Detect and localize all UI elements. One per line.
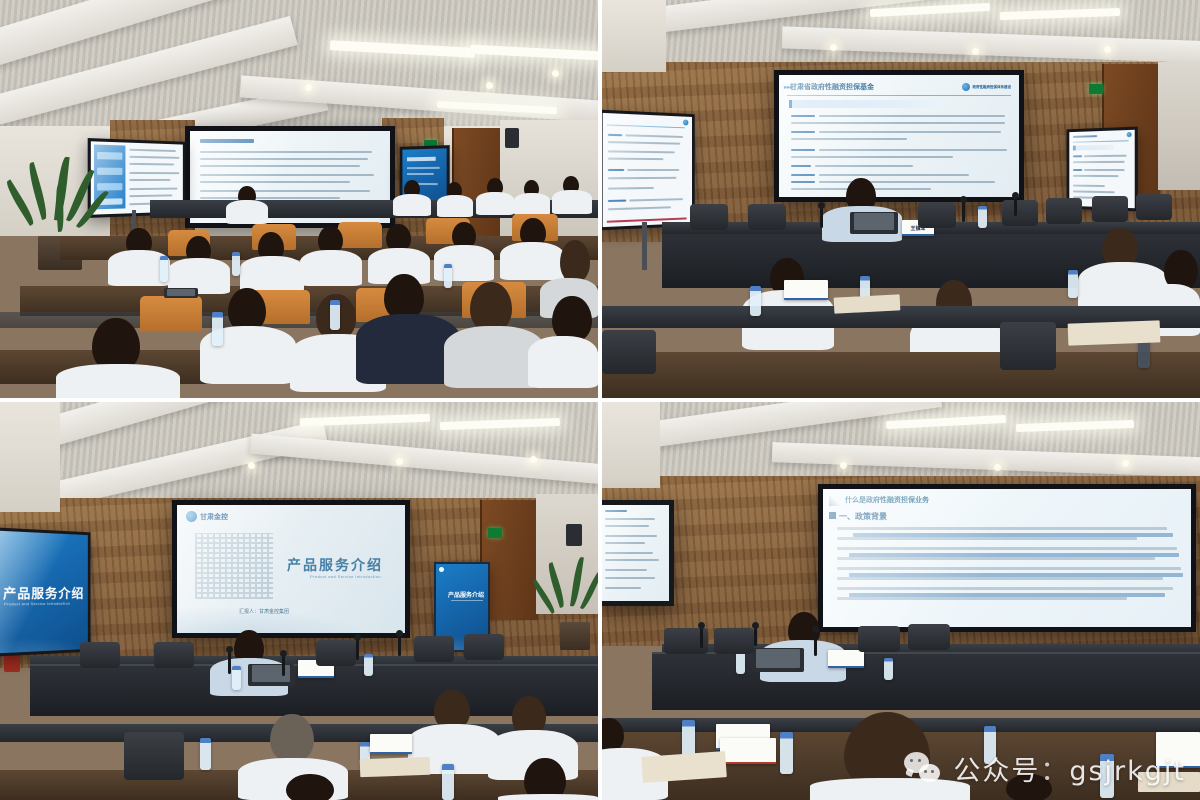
- attendee-body: [226, 200, 268, 224]
- attendee-body: [393, 194, 431, 216]
- side-wall: [602, 402, 660, 488]
- projection-screen: 甘肃省政府性融资担保基金 ▸▸▸ 政府性融资担保体系建设: [774, 70, 1024, 202]
- ceiling-spotlight: [972, 48, 979, 55]
- water-bottle: [232, 252, 240, 276]
- chair: [602, 330, 656, 374]
- slide-surface: [602, 505, 669, 601]
- laptop: [164, 288, 198, 298]
- name-placard: [828, 650, 864, 668]
- notebook: [1138, 772, 1200, 792]
- chair: [414, 636, 454, 662]
- desk-row: [602, 352, 1200, 398]
- side-wall: [1158, 62, 1200, 190]
- ceiling-spotlight: [530, 456, 537, 463]
- ceiling-spotlight: [248, 462, 255, 469]
- attendee-body: [56, 364, 180, 398]
- water-bottle: [978, 206, 987, 228]
- chair: [690, 204, 728, 230]
- attendee-head: [560, 240, 590, 282]
- microphone: [398, 634, 401, 656]
- chair: [1046, 198, 1082, 224]
- water-bottle: [212, 312, 223, 346]
- monitor-stand: [642, 222, 647, 270]
- water-bottle: [750, 286, 761, 316]
- microphone: [814, 630, 817, 656]
- head-table: [652, 652, 1200, 710]
- chair: [858, 626, 900, 652]
- photo-collage: 甘肃省政府性融资担保基金 ▸▸▸ 政府性融资担保体系建设: [0, 0, 1200, 800]
- attendee-body: [552, 190, 592, 214]
- chair: [748, 204, 786, 230]
- chair: [124, 732, 184, 780]
- exit-sign-icon: [1089, 84, 1103, 94]
- chair: [1000, 322, 1056, 370]
- chair: [1136, 194, 1172, 220]
- photo-panel-bottom-left: 甘肃金控 产品服务介绍 Product and Service Introduc…: [0, 402, 598, 800]
- attendee-body: [498, 794, 598, 800]
- chair-back: [338, 222, 382, 248]
- attendee-head: [270, 714, 314, 762]
- laptop: [850, 212, 898, 234]
- microphone: [282, 654, 285, 676]
- side-screen-left: [602, 500, 674, 606]
- attendee-body: [434, 245, 494, 281]
- attendee-body: [810, 778, 970, 800]
- side-wall: [0, 402, 60, 512]
- ceiling-spotlight: [1122, 460, 1129, 467]
- water-bottle: [1068, 270, 1078, 298]
- exit-sign-icon: [488, 528, 502, 538]
- water-bottle: [444, 264, 452, 288]
- laptop: [248, 664, 294, 686]
- projection-screen: 什么是政府性融资担保业务 一、政策背景: [818, 484, 1196, 632]
- chair-back: [140, 296, 202, 332]
- water-bottle: [1100, 754, 1114, 798]
- chair: [1002, 200, 1038, 226]
- chair: [154, 642, 194, 668]
- water-bottle: [160, 256, 168, 282]
- chair: [918, 202, 956, 228]
- water-bottle: [884, 658, 893, 680]
- attendee-body: [476, 192, 514, 215]
- slide-surface: 甘肃金控 产品服务介绍 Product and Service Introduc…: [177, 505, 405, 633]
- attendee-body: [528, 336, 598, 388]
- chair: [714, 628, 754, 654]
- slide-surface: 甘肃省政府性融资担保基金 ▸▸▸ 政府性融资担保体系建设: [779, 75, 1019, 197]
- water-bottle: [984, 726, 996, 764]
- microphone: [754, 626, 757, 646]
- water-bottle: [232, 666, 241, 690]
- laptop: [752, 648, 804, 672]
- water-bottle: [200, 738, 211, 770]
- chair: [80, 642, 120, 668]
- notebook: [360, 757, 431, 777]
- name-placard: [370, 734, 412, 754]
- projection-screen: 甘肃金控 产品服务介绍 Product and Service Introduc…: [172, 500, 410, 638]
- side-wall: [602, 0, 666, 72]
- chair: [1092, 196, 1128, 222]
- notebook: [1068, 320, 1161, 345]
- wall-speaker: [505, 128, 519, 148]
- monitor-slide: [603, 113, 692, 227]
- photo-panel-top-right: 甘肃省政府性融资担保基金 ▸▸▸ 政府性融资担保体系建设: [602, 0, 1200, 398]
- attendee-body: [437, 195, 473, 217]
- name-placard: [720, 738, 776, 764]
- microphone: [962, 200, 965, 222]
- attendee-head: [286, 774, 334, 800]
- water-bottle: [364, 654, 373, 676]
- chair: [908, 624, 950, 650]
- photo-panel-bottom-right: 什么是政府性融资担保业务 一、政策背景: [602, 402, 1200, 800]
- attendee-body: [500, 242, 564, 280]
- ceiling-spotlight: [486, 82, 493, 89]
- attendee-head: [1006, 774, 1052, 800]
- chair: [464, 634, 504, 660]
- ceiling-spotlight: [305, 84, 312, 91]
- company-logo-icon: [439, 567, 444, 572]
- ceiling-spotlight: [830, 44, 837, 51]
- water-bottle: [442, 764, 454, 800]
- banner-title: 产品服务介绍: [448, 590, 484, 599]
- ceiling-spotlight: [396, 458, 403, 465]
- microphone: [820, 206, 823, 228]
- side-monitor-left: [602, 110, 695, 231]
- ceiling-spotlight: [994, 464, 1001, 471]
- attendee-head: [470, 282, 512, 332]
- water-bottle: [780, 732, 793, 774]
- attendee-body: [240, 256, 304, 292]
- microphone: [1014, 196, 1017, 216]
- monitor-slide: 产品服务介绍 Product and Service Introduction: [0, 531, 88, 654]
- wall-speaker: [566, 524, 582, 546]
- name-placard: [1156, 732, 1200, 768]
- slide-surface: 什么是政府性融资担保业务 一、政策背景: [823, 489, 1191, 627]
- ceiling-spotlight: [1104, 46, 1111, 53]
- attendee-body: [514, 193, 550, 215]
- ceiling-spotlight: [552, 70, 559, 77]
- side-monitor-left: 产品服务介绍 Product and Service Introduction: [0, 527, 91, 656]
- chair: [316, 640, 356, 666]
- potted-plant: [546, 552, 598, 652]
- ceiling-spotlight: [840, 462, 847, 469]
- microphone: [356, 638, 359, 660]
- attendee-body: [300, 250, 362, 286]
- microphone: [700, 626, 703, 648]
- name-placard: [784, 280, 828, 300]
- photo-panel-top-left: [0, 0, 598, 398]
- water-bottle: [330, 300, 340, 330]
- microphone: [228, 650, 231, 674]
